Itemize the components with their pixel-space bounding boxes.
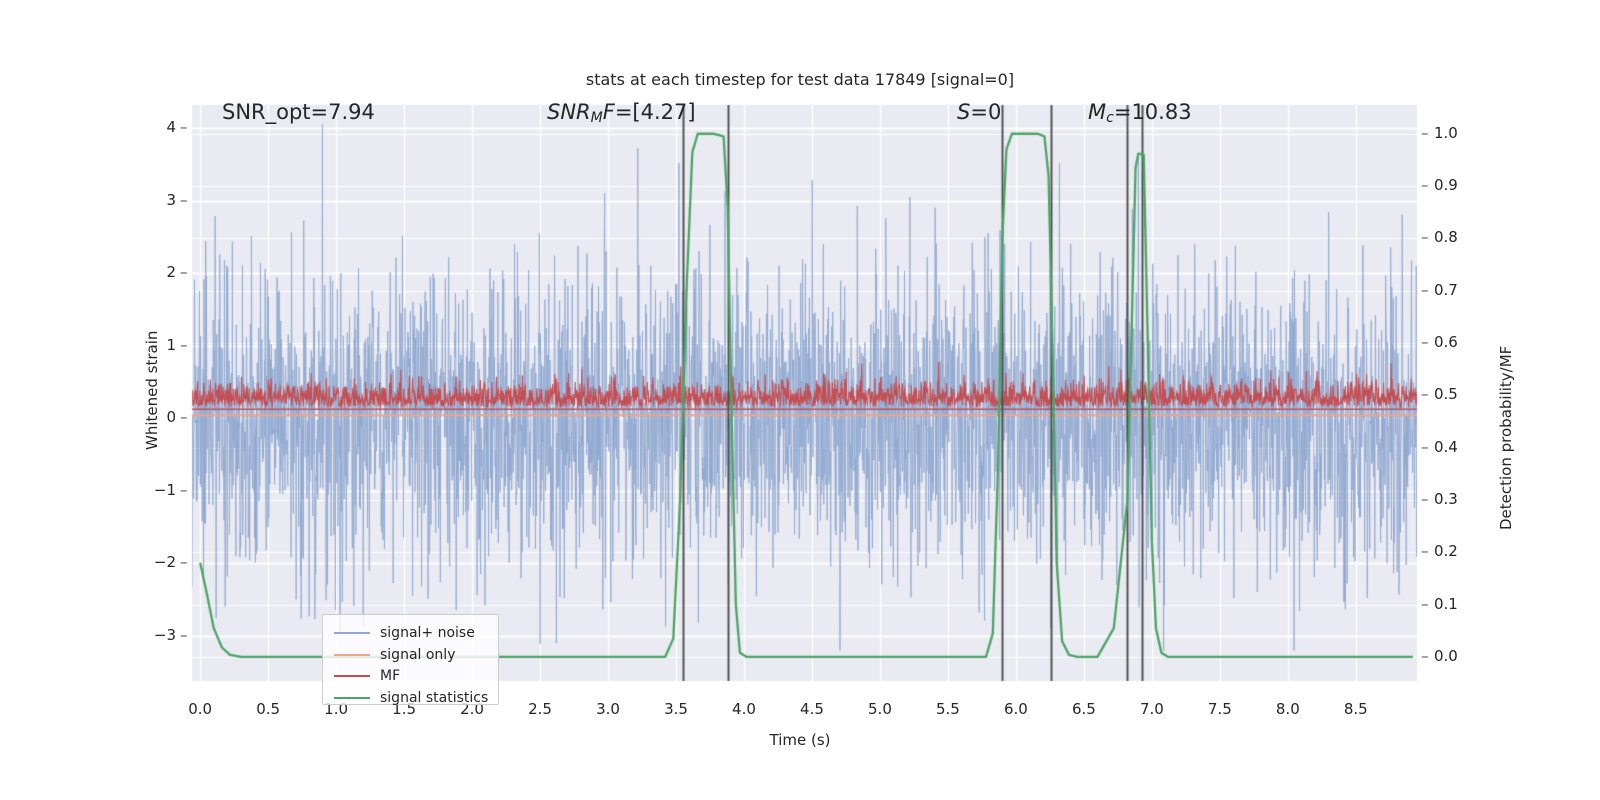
matplotlib-figure: stats at each timestep for test data 178… (0, 0, 1600, 800)
plot-canvas (0, 0, 1600, 800)
